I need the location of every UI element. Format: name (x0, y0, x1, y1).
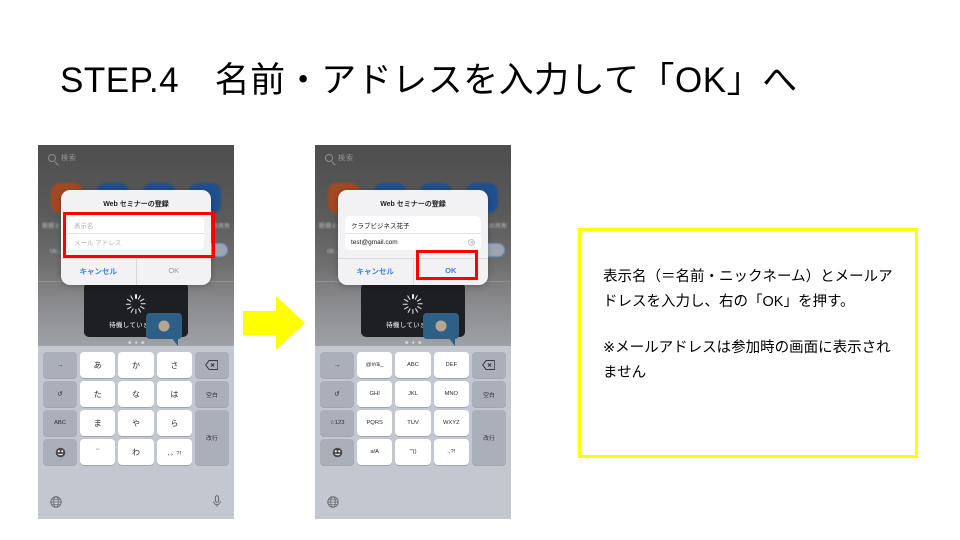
keyboard-bottom-bar-before (38, 489, 234, 519)
key-jkl[interactable]: JKL (395, 381, 430, 407)
key-undo[interactable]: ↺ (320, 381, 354, 407)
globe-icon[interactable] (50, 495, 62, 513)
key-mno[interactable]: MNO (434, 381, 469, 407)
key-ha[interactable]: は (157, 381, 192, 407)
key-abc-mode[interactable]: ABC (43, 410, 77, 436)
key-wxyz[interactable]: WXYZ (434, 410, 469, 436)
key-symbols[interactable]: @#/&_ (357, 352, 392, 378)
key-case-toggle[interactable]: a/A (357, 439, 392, 465)
keyboard-grid-after: → @#/&_ ABC DEF ↺ GHI JKL MNO 空白 ☆123 PQ… (320, 352, 506, 465)
step-arrow (243, 296, 305, 355)
key-punctuation[interactable]: .,?! (434, 439, 469, 465)
key-a[interactable]: あ (80, 352, 115, 378)
key-abc[interactable]: ABC (395, 352, 430, 378)
email-value: test@gmail.com (351, 239, 468, 246)
cancel-button[interactable]: キャンセル (61, 259, 137, 285)
participant-thumbnail-after (423, 313, 459, 339)
key-sa[interactable]: さ (157, 352, 192, 378)
page-dots-before (128, 341, 144, 344)
key-ka[interactable]: か (118, 352, 153, 378)
search-bar-before: 検索 (48, 153, 77, 163)
phone-screenshot-after: 検索 新規ミー... ...の共有 06:... (315, 145, 511, 519)
key-space[interactable]: 空白 (195, 381, 229, 407)
highlight-input-fields (63, 212, 215, 258)
search-icon (325, 154, 333, 162)
key-tuv[interactable]: TUV (395, 410, 430, 436)
email-input[interactable]: test@gmail.com (345, 233, 481, 250)
search-placeholder: 検索 (61, 153, 77, 163)
slide-canvas: STEP.4 名前・アドレスを入力して「OK」へ 検索 新規ミー... ...の… (0, 0, 960, 540)
avatar (436, 321, 447, 332)
dialog-actions-before: キャンセル OK (61, 258, 211, 285)
spinner-icon (403, 294, 423, 314)
ok-button[interactable]: OK (137, 259, 212, 285)
key-ta[interactable]: た (80, 381, 115, 407)
key-punctuation[interactable]: 、。?! (157, 439, 192, 465)
dialog-title: Web セミナーの登録 (338, 190, 488, 216)
page-title: STEP.4 名前・アドレスを入力して「OK」へ (60, 52, 920, 103)
key-ma[interactable]: ま (80, 410, 115, 436)
key-ghi[interactable]: GHI (357, 381, 392, 407)
note-paragraph-1: 表示名（＝名前・ニックネーム）とメールアドレスを入力し、右の「OK」を押す。 (603, 265, 893, 316)
display-name-input[interactable]: クラブビジネス花子 (345, 216, 481, 233)
search-placeholder: 検索 (338, 153, 354, 163)
key-def[interactable]: DEF (434, 352, 469, 378)
key-undo[interactable]: ↺ (43, 381, 77, 407)
note-callout: 表示名（＝名前・ニックネーム）とメールアドレスを入力し、右の「OK」を押す。 ※… (578, 228, 918, 458)
key-pqrs[interactable]: PQRS (357, 410, 392, 436)
key-next[interactable]: → (320, 352, 354, 378)
delete-icon[interactable] (472, 352, 506, 378)
participant-thumbnail-before (146, 313, 182, 339)
key-space[interactable]: 空白 (472, 381, 506, 407)
key-na[interactable]: な (118, 381, 153, 407)
key-return[interactable]: 改行 (195, 410, 229, 465)
phone-screenshot-before: 検索 新規ミー... ...の共有 06:... (38, 145, 234, 519)
search-icon (48, 154, 56, 162)
kana-keyboard: → あ か さ ↺ た な は 空白 ABC ま や ら 改行 (38, 346, 234, 519)
key-dakuten[interactable]: ˆˆ (80, 439, 115, 465)
microphone-icon[interactable] (212, 495, 222, 513)
avatar (159, 321, 170, 332)
alphanumeric-keyboard: → @#/&_ ABC DEF ↺ GHI JKL MNO 空白 ☆123 PQ… (315, 346, 511, 519)
key-return[interactable]: 改行 (472, 410, 506, 465)
emoji-icon[interactable] (320, 439, 354, 465)
key-ra[interactable]: ら (157, 410, 192, 436)
note-paragraph-2: ※メールアドレスは参加時の画面に表示されません (603, 336, 893, 387)
clear-icon[interactable] (468, 239, 475, 246)
keyboard-bottom-bar-after (315, 489, 511, 519)
highlight-ok-button (416, 250, 478, 280)
cancel-button[interactable]: キャンセル (338, 259, 414, 285)
spinner-icon (126, 294, 146, 314)
globe-icon[interactable] (327, 495, 339, 513)
search-bar-after: 検索 (325, 153, 354, 163)
display-name-value: クラブビジネス花子 (351, 220, 475, 230)
delete-icon[interactable] (195, 352, 229, 378)
key-next[interactable]: → (43, 352, 77, 378)
key-ya[interactable]: や (118, 410, 153, 436)
emoji-icon[interactable] (43, 439, 77, 465)
page-dots-after (405, 341, 421, 344)
keyboard-grid-before: → あ か さ ↺ た な は 空白 ABC ま や ら 改行 (43, 352, 229, 465)
key-numeric-mode[interactable]: ☆123 (320, 410, 354, 436)
key-quotes[interactable]: '"() (395, 439, 430, 465)
key-wa[interactable]: わ (118, 439, 153, 465)
dialog-fields-after: クラブビジネス花子 test@gmail.com (345, 216, 481, 250)
